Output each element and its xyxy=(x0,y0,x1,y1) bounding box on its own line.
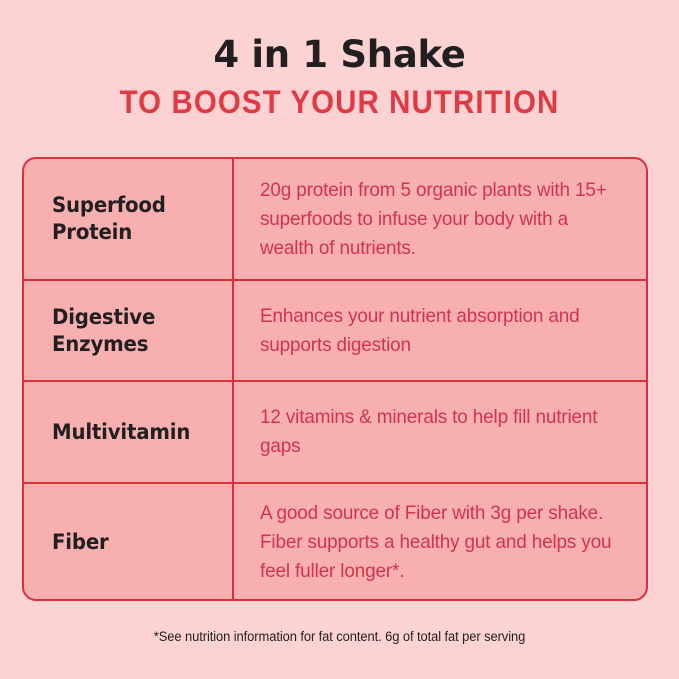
benefit-description: A good source of Fiber with 3g per shake… xyxy=(260,499,619,586)
table-row: Digestive Enzymes Enhances your nutrient… xyxy=(24,279,646,380)
table-row: Fiber A good source of Fiber with 3g per… xyxy=(24,482,646,600)
benefit-description: 20g protein from 5 organic plants with 1… xyxy=(260,176,619,263)
table-cell-description: 12 vitamins & minerals to help fill nutr… xyxy=(234,382,646,482)
benefit-label: Fiber xyxy=(52,529,109,556)
page-title: 4 in 1 Shake xyxy=(0,33,679,77)
table-cell-label: Digestive Enzymes xyxy=(24,281,234,380)
benefit-label: Superfood Protein xyxy=(52,192,212,246)
table-cell-label: Fiber xyxy=(24,484,234,600)
table-cell-label: Superfood Protein xyxy=(24,159,234,279)
table-cell-description: Enhances your nutrient absorption and su… xyxy=(234,281,646,380)
footnote: *See nutrition information for fat conte… xyxy=(14,627,666,646)
table-cell-description: A good source of Fiber with 3g per shake… xyxy=(234,484,646,600)
benefit-label: Multivitamin xyxy=(52,419,190,446)
heading-block: 4 in 1 Shake To Boost Your Nutrition xyxy=(0,33,679,121)
table-row: Multivitamin 12 vitamins & minerals to h… xyxy=(24,380,646,482)
benefit-description: Enhances your nutrient absorption and su… xyxy=(260,302,619,360)
benefit-description: 12 vitamins & minerals to help fill nutr… xyxy=(260,403,619,461)
benefit-label: Digestive Enzymes xyxy=(52,304,212,358)
shake-benefits-infographic: 4 in 1 Shake To Boost Your Nutrition Sup… xyxy=(0,0,679,679)
page-subtitle: To Boost Your Nutrition xyxy=(27,83,652,121)
benefits-table: Superfood Protein 20g protein from 5 org… xyxy=(22,157,648,601)
table-row: Superfood Protein 20g protein from 5 org… xyxy=(24,159,646,279)
table-cell-label: Multivitamin xyxy=(24,382,234,482)
table-cell-description: 20g protein from 5 organic plants with 1… xyxy=(234,159,646,279)
